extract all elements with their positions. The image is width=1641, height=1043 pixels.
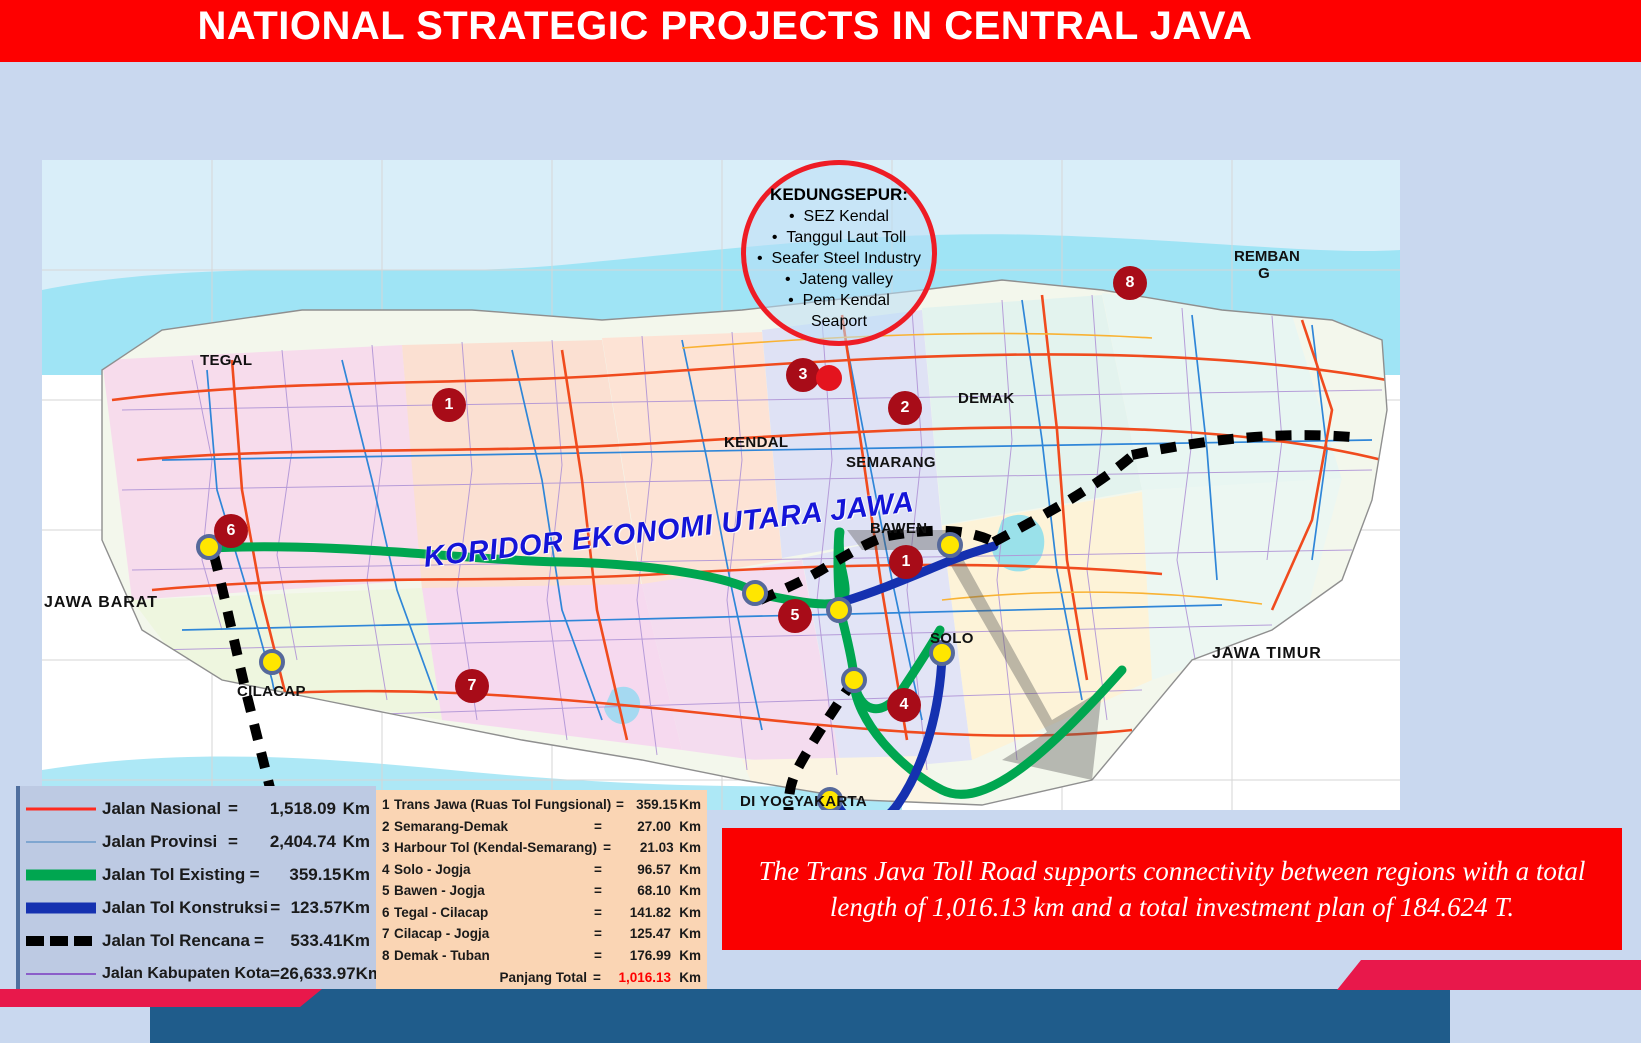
legend-row-jalan-nasional: Jalan Nasional = 1,518.09 Km bbox=[26, 792, 370, 825]
table-row: 6 Tegal - Cilacap = 141.82 Km bbox=[382, 902, 701, 924]
toll-road-table: 1 Trans Jawa (Ruas Tol Fungsional) = 359… bbox=[376, 790, 707, 990]
legend-value-jalan-tol-existing: 359.15 bbox=[264, 865, 342, 885]
legend-unit-jalan-tol-konstruksi: Km bbox=[343, 898, 370, 918]
legend-eq-jalan-tol-konstruksi: = bbox=[268, 898, 282, 918]
toll-row-eq: = bbox=[587, 926, 609, 941]
city-label-di-yogyakarta: DI YOGYAKARTA bbox=[740, 793, 867, 810]
toll-row-name: Semarang-Demak bbox=[394, 819, 587, 834]
legend-value-jalan-nasional: 1,518.09 bbox=[244, 799, 336, 819]
legend-value-jalan-tol-konstruksi: 123.57 bbox=[282, 898, 342, 918]
toll-row-value: 21.03 bbox=[617, 840, 674, 855]
toll-row-eq: = bbox=[587, 819, 609, 834]
toll-row-index: 5 bbox=[382, 883, 394, 898]
project-marker-3[interactable]: 3 bbox=[786, 358, 820, 392]
city-label-demak: DEMAK bbox=[958, 390, 1015, 407]
toll-row-name: Demak - Tuban bbox=[394, 948, 587, 963]
legend-eq-jalan-nasional: = bbox=[222, 799, 244, 819]
toll-total-value: 1,016.13 bbox=[603, 970, 671, 985]
legend-value-jalan-tol-rencana: 533.41 bbox=[268, 931, 343, 951]
map-graphic bbox=[42, 160, 1400, 810]
map-canvas[interactable]: KORIDOR EKONOMI UTARA JAWA TEGAL KENDAL … bbox=[42, 160, 1400, 810]
toll-row-index: 2 bbox=[382, 819, 394, 834]
toll-row-name: Bawen - Jogja bbox=[394, 883, 587, 898]
region-label-jawa-barat: JAWA BARAT bbox=[44, 594, 158, 612]
legend-label-jalan-tol-konstruksi: Jalan Tol Konstruksi bbox=[102, 898, 268, 918]
table-row: 4 Solo - Jogja = 96.57 Km bbox=[382, 859, 701, 881]
city-label-kendal: KENDAL bbox=[724, 434, 788, 451]
toll-row-name: Harbour Tol (Kendal-Semarang) bbox=[394, 840, 597, 855]
project-marker-5[interactable]: 5 bbox=[778, 599, 812, 633]
toll-row-index: 7 bbox=[382, 926, 394, 941]
footer-accent-left bbox=[0, 989, 300, 1007]
table-row: 5 Bawen - Jogja = 68.10 Km bbox=[382, 880, 701, 902]
toll-row-name: Solo - Jogja bbox=[394, 862, 587, 877]
legend-row-jalan-tol-rencana: Jalan Tol Rencana = 533.41 Km bbox=[26, 924, 370, 957]
legend-swatch-jalan-tol-konstruksi bbox=[26, 899, 96, 917]
project-marker-1[interactable]: 1 bbox=[432, 388, 466, 422]
legend-row-jalan-provinsi: Jalan Provinsi = 2,404.74 Km bbox=[26, 825, 370, 858]
toll-row-value: 125.47 bbox=[609, 926, 671, 941]
legend-unit-jalan-nasional: Km bbox=[336, 799, 370, 819]
page-title: NATIONAL STRATEGIC PROJECTS IN CENTRAL J… bbox=[0, 4, 1450, 49]
toll-row-name: Tegal - Cilacap bbox=[394, 905, 587, 920]
toll-row-index: 6 bbox=[382, 905, 394, 920]
kedungsepur-item-seaport: Seaport bbox=[746, 311, 932, 332]
legend-value-jalan-kabupaten-kota: 26,633.97 bbox=[280, 964, 356, 984]
title-bar: NATIONAL STRATEGIC PROJECTS IN CENTRAL J… bbox=[0, 0, 1641, 62]
footer-accent-right bbox=[1361, 960, 1641, 990]
table-row: 1 Trans Jawa (Ruas Tol Fungsional) = 359… bbox=[382, 794, 701, 816]
kedungsepur-item-jateng-valley: Jateng valley bbox=[746, 269, 932, 290]
toll-total-label: Panjang Total bbox=[382, 970, 591, 985]
toll-row-unit: Km bbox=[671, 926, 701, 941]
table-row: 2 Semarang-Demak = 27.00 Km bbox=[382, 816, 701, 838]
project-marker-2[interactable]: 2 bbox=[888, 391, 922, 425]
table-row: 3 Harbour Tol (Kendal-Semarang) = 21.03 … bbox=[382, 837, 701, 859]
legend-row-jalan-tol-konstruksi: Jalan Tol Konstruksi = 123.57 Km bbox=[26, 891, 370, 924]
toll-row-index: 1 bbox=[382, 797, 394, 812]
toll-row-value: 176.99 bbox=[609, 948, 671, 963]
toll-row-eq: = bbox=[587, 948, 609, 963]
legend-eq-jalan-tol-rencana: = bbox=[250, 931, 268, 951]
legend-swatch-jalan-tol-existing bbox=[26, 866, 96, 884]
toll-row-unit: Km bbox=[671, 883, 701, 898]
toll-total-unit: Km bbox=[671, 970, 701, 985]
toll-row-value: 141.82 bbox=[609, 905, 671, 920]
legend-row-jalan-kabupaten-kota: Jalan Kabupaten Kota = 26,633.97 Km bbox=[26, 957, 370, 990]
legend-label-jalan-provinsi: Jalan Provinsi bbox=[102, 832, 222, 852]
legend-label-jalan-tol-existing: Jalan Tol Existing bbox=[102, 865, 245, 885]
toll-row-value: 27.00 bbox=[609, 819, 671, 834]
city-label-cilacap: CILACAP bbox=[237, 683, 306, 700]
toll-total-row: Panjang Total = 1,016.13 Km bbox=[382, 966, 701, 989]
legend-unit-jalan-tol-rencana: Km bbox=[342, 931, 370, 951]
legend-label-jalan-tol-rencana: Jalan Tol Rencana bbox=[102, 931, 250, 951]
toll-row-value: 68.10 bbox=[609, 883, 671, 898]
toll-row-unit: Km bbox=[671, 862, 701, 877]
toll-row-eq: = bbox=[611, 797, 628, 812]
legend-swatch-jalan-nasional bbox=[26, 800, 96, 818]
legend-row-jalan-tol-existing: Jalan Tol Existing = 359.15 Km bbox=[26, 858, 370, 891]
project-dot-marker[interactable] bbox=[816, 365, 842, 391]
legend-label-jalan-kabupaten-kota: Jalan Kabupaten Kota bbox=[102, 965, 270, 983]
region-label-jawa-timur: JAWA TIMUR bbox=[1212, 645, 1322, 663]
project-marker-6[interactable]: 6 bbox=[214, 514, 248, 548]
city-label-solo: SOLO bbox=[930, 630, 974, 647]
kedungsepur-callout: KEDUNGSEPUR: SEZ Kendal Tanggul Laut Tol… bbox=[741, 160, 937, 346]
table-row: 8 Demak - Tuban = 176.99 Km bbox=[382, 945, 701, 967]
legend-label-jalan-nasional: Jalan Nasional bbox=[102, 799, 222, 819]
project-marker-8[interactable]: 8 bbox=[1113, 266, 1147, 300]
legend-swatch-jalan-tol-rencana bbox=[26, 932, 96, 950]
legend-panel: Jalan Nasional = 1,518.09 Km Jalan Provi… bbox=[16, 786, 376, 994]
legend-swatch-jalan-provinsi bbox=[26, 833, 96, 851]
legend-unit-jalan-provinsi: Km bbox=[336, 832, 370, 852]
legend-eq-jalan-kabupaten-kota: = bbox=[270, 964, 280, 984]
legend-swatch-jalan-kabupaten-kota bbox=[26, 965, 96, 983]
kedungsepur-item-sez-kendal: SEZ Kendal bbox=[746, 206, 932, 227]
toll-row-index: 3 bbox=[382, 840, 394, 855]
toll-row-unit: Km bbox=[671, 948, 701, 963]
project-marker-4[interactable]: 4 bbox=[887, 688, 921, 722]
toll-row-unit: Km bbox=[674, 840, 701, 855]
toll-row-unit: Km bbox=[671, 905, 701, 920]
city-label-semarang: SEMARANG bbox=[846, 454, 936, 471]
toll-row-eq: = bbox=[587, 905, 609, 920]
toll-row-eq: = bbox=[597, 840, 617, 855]
legend-eq-jalan-provinsi: = bbox=[222, 832, 244, 852]
infographic-page: NATIONAL STRATEGIC PROJECTS IN CENTRAL J… bbox=[0, 0, 1641, 1043]
legend-eq-jalan-tol-existing: = bbox=[245, 865, 264, 885]
toll-row-index: 8 bbox=[382, 948, 394, 963]
table-row: 7 Cilacap - Jogja = 125.47 Km bbox=[382, 923, 701, 945]
toll-row-eq: = bbox=[587, 862, 609, 877]
kedungsepur-item-pem-kendal: Pem Kendal bbox=[746, 290, 932, 311]
project-marker-1-solo[interactable]: 1 bbox=[889, 545, 923, 579]
toll-row-unit: Km bbox=[671, 819, 701, 834]
city-label-bawen: BAWEN bbox=[870, 520, 927, 537]
toll-row-unit: Km bbox=[677, 797, 701, 812]
toll-row-value: 359.15 bbox=[629, 797, 678, 812]
toll-row-eq: = bbox=[587, 883, 609, 898]
caption-text: The Trans Java Toll Road supports connec… bbox=[737, 853, 1607, 925]
footer-bar-blue bbox=[150, 989, 1450, 1043]
toll-row-index: 4 bbox=[382, 862, 394, 877]
toll-row-value: 96.57 bbox=[609, 862, 671, 877]
caption-box: The Trans Java Toll Road supports connec… bbox=[722, 828, 1622, 950]
legend-value-jalan-provinsi: 2,404.74 bbox=[244, 832, 336, 852]
toll-row-name: Cilacap - Jogja bbox=[394, 926, 587, 941]
legend-unit-jalan-tol-existing: Km bbox=[341, 865, 370, 885]
kedungsepur-item-tanggul-laut-toll: Tanggul Laut Toll bbox=[746, 227, 932, 248]
kedungsepur-item-seafer-steel-industry: Seafer Steel Industry bbox=[746, 248, 932, 269]
toll-total-eq: = bbox=[591, 970, 603, 985]
city-label-rembang: REMBAN G bbox=[1234, 248, 1294, 282]
kedungsepur-title: KEDUNGSEPUR: bbox=[746, 185, 932, 205]
city-label-tegal: TEGAL bbox=[200, 352, 252, 369]
project-marker-7[interactable]: 7 bbox=[455, 669, 489, 703]
toll-row-name: Trans Jawa (Ruas Tol Fungsional) bbox=[394, 797, 611, 812]
